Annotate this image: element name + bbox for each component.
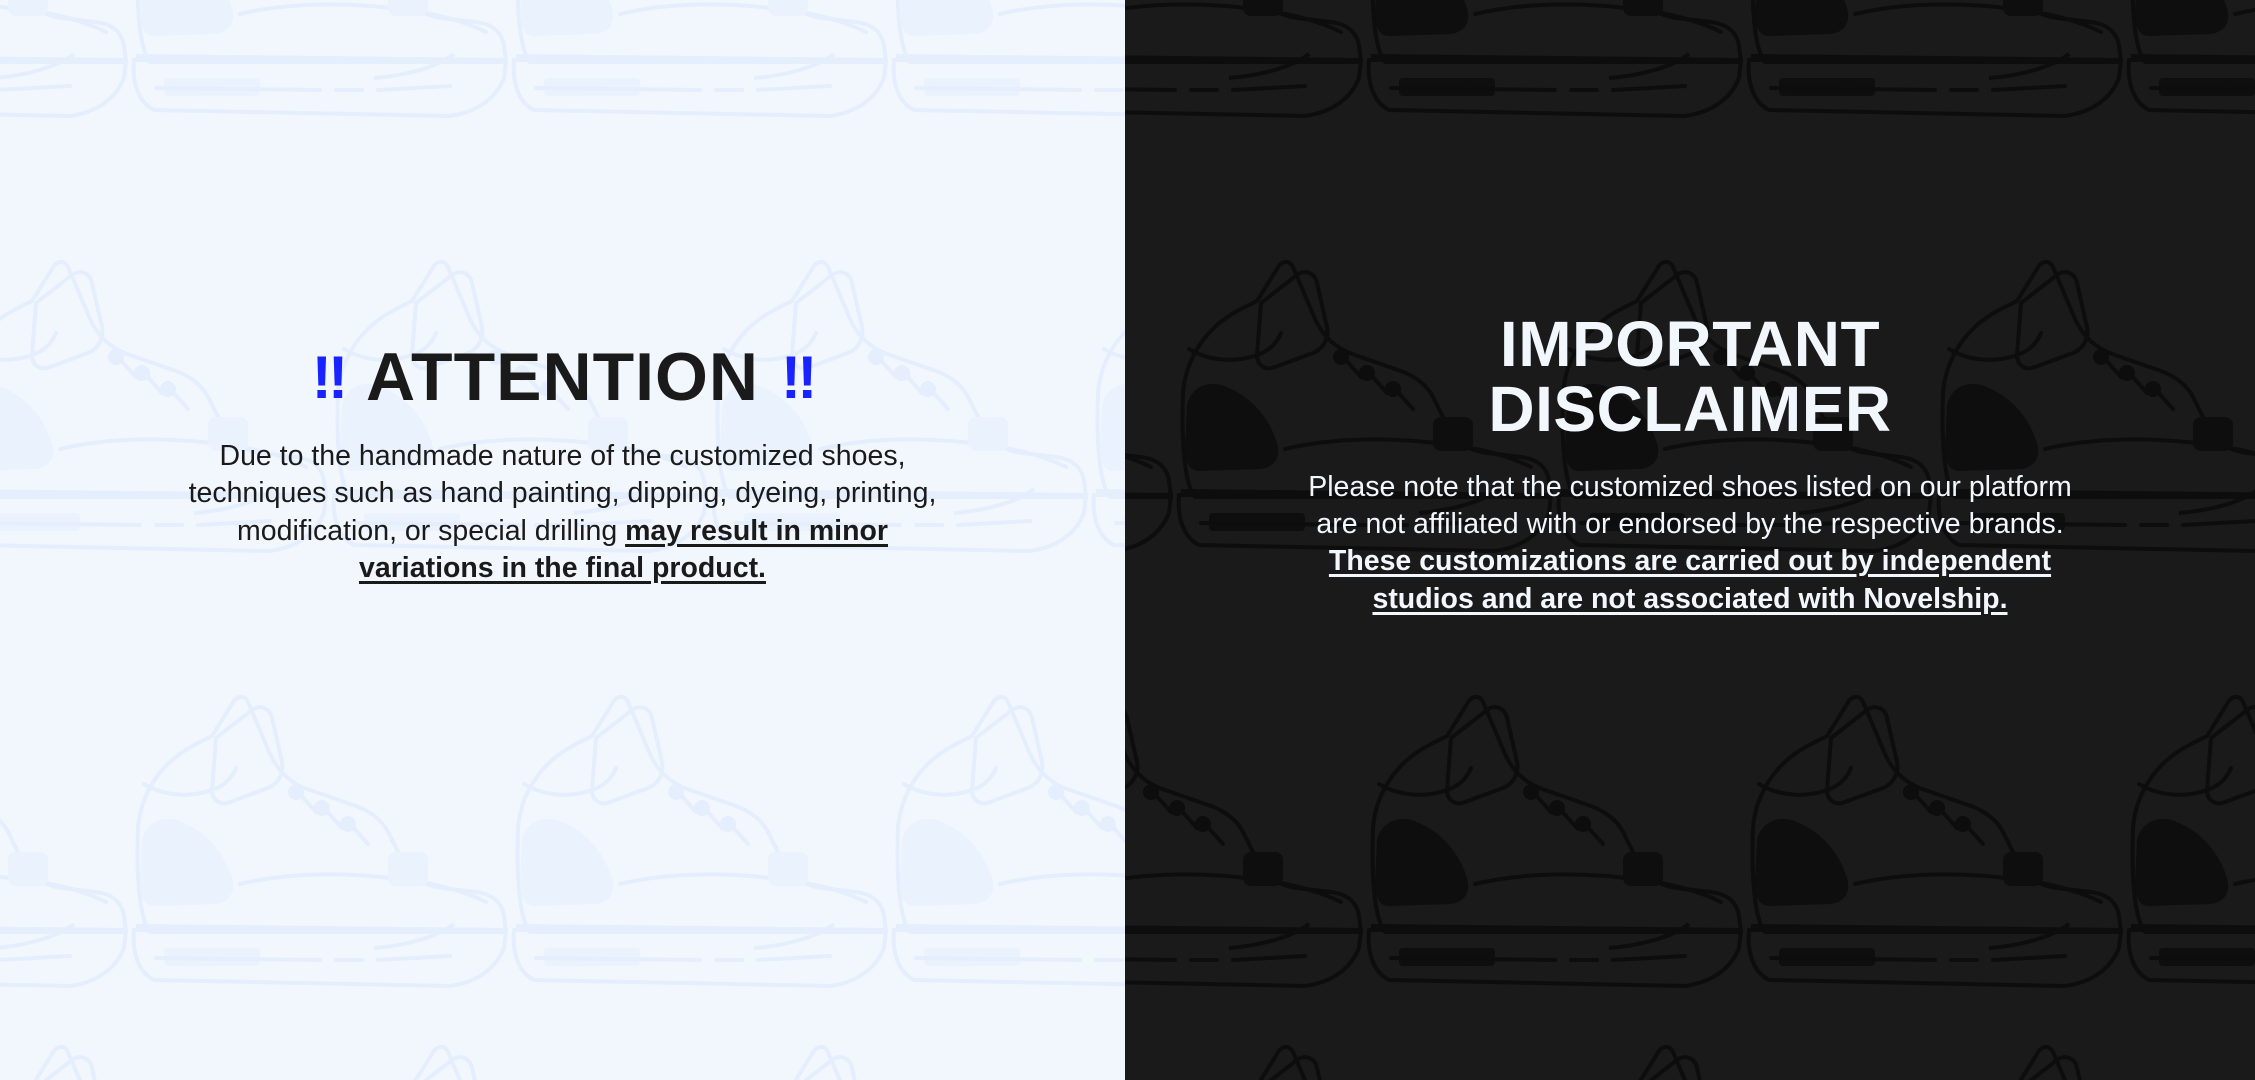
disclaimer-body-emphasis: These customizations are carried out by … (1329, 545, 2051, 614)
dual-panel-banner: ‼ATTENTION‼ Due to the handmade nature o… (0, 0, 2255, 1080)
disclaimer-heading-line-2: DISCLAIMER (1125, 377, 2255, 442)
disclaimer-panel: IMPORTANT DISCLAIMER Please note that th… (1125, 0, 2255, 1080)
attention-panel: ‼ATTENTION‼ Due to the handmade nature o… (0, 0, 1125, 1080)
disclaimer-heading-line-1: IMPORTANT (1125, 312, 2255, 377)
disclaimer-body: Please note that the customized shoes li… (1290, 469, 2090, 618)
attention-heading: ‼ATTENTION‼ (0, 343, 1125, 412)
disclaimer-body-normal: Please note that the customized shoes li… (1308, 471, 2072, 540)
attention-body: Due to the handmade nature of the custom… (168, 438, 958, 587)
double-exclamation-icon-left: ‼ (312, 344, 344, 411)
attention-heading-text: ATTENTION (366, 339, 759, 415)
double-exclamation-icon-right: ‼ (781, 344, 813, 411)
attention-content: ‼ATTENTION‼ Due to the handmade nature o… (0, 343, 1125, 738)
disclaimer-content: IMPORTANT DISCLAIMER Please note that th… (1125, 312, 2255, 768)
disclaimer-heading: IMPORTANT DISCLAIMER (1125, 312, 2255, 443)
